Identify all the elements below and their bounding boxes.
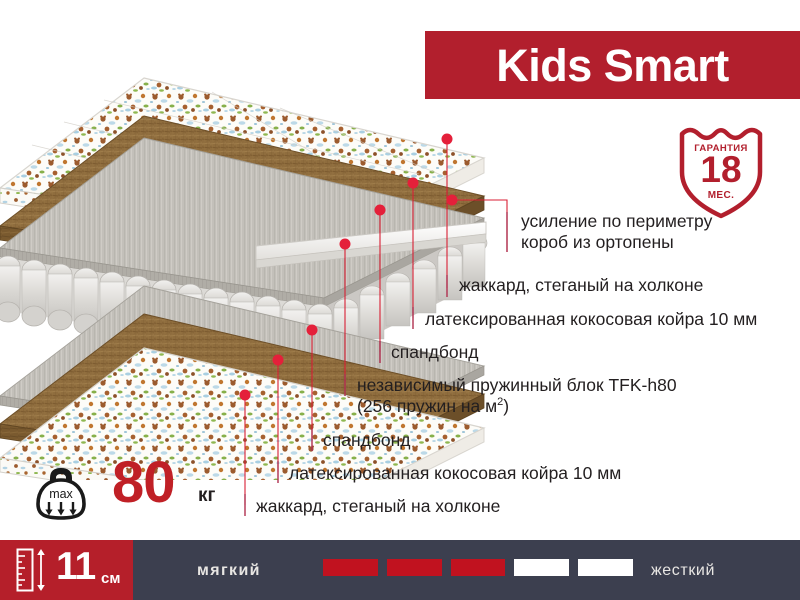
firmness-hard-label: жесткий <box>651 562 715 580</box>
callout-jacquard-top: жаккард, стеганый на холконе <box>459 275 703 296</box>
firmness-segment-2 <box>387 559 442 576</box>
firmness-segment-1 <box>323 559 378 576</box>
callout-perimeter-line1: усиление по периметру <box>521 211 712 232</box>
product-title-banner: Kids Smart <box>425 31 800 99</box>
max-weight-value: 80 <box>112 454 175 512</box>
firmness-segment-3 <box>451 559 506 576</box>
firmness-scale <box>323 559 633 579</box>
firmness-segment-5 <box>578 559 633 576</box>
callout-coir-top: латексированная кокосовая койра 10 мм <box>425 309 757 330</box>
callout-coir-bottom: латексированная кокосовая койра 10 мм <box>289 463 621 484</box>
ruler-icon <box>16 548 50 592</box>
mattress-illustration <box>0 70 504 480</box>
kettlebell-icon: max <box>30 462 92 524</box>
height-value: 11 <box>56 547 95 586</box>
callout-spring-line2-post: ) <box>503 396 509 416</box>
max-weight-unit: кг <box>198 486 215 505</box>
height-unit: см <box>101 571 120 586</box>
callout-spring-line1: независимый пружинный блок TFK-h80 <box>357 375 677 396</box>
infographic-page: Kids Smart ГАРАНТИЯ 18 МЕС. <box>0 0 800 600</box>
warranty-badge: ГАРАНТИЯ 18 МЕС. <box>676 124 766 219</box>
callout-spring-line2-pre: (256 пружин на м <box>357 396 497 416</box>
callout-spandbond-bottom: спандбонд <box>323 430 410 451</box>
callout-perimeter-line2: короб из ортопены <box>521 232 712 253</box>
page-title: Kids Smart <box>496 43 729 88</box>
warranty-unit: МЕС. <box>676 190 766 201</box>
bottom-bar: 11 см мягкий жесткий <box>0 540 800 600</box>
callout-jacquard-bottom: жаккард, стеганый на холконе <box>256 496 500 517</box>
max-weight-block: max 80 кг <box>30 458 260 530</box>
svg-text:max: max <box>49 487 73 501</box>
callout-spandbond-top: спандбонд <box>391 342 478 363</box>
callout-spring-line2: (256 пружин на м2) <box>357 396 677 417</box>
warranty-value: 18 <box>676 151 766 188</box>
firmness-segment-4 <box>514 559 569 576</box>
height-block: 11 см <box>0 540 133 600</box>
firmness-soft-label: мягкий <box>197 562 261 580</box>
callout-perimeter-reinforcement: усиление по периметру короб из ортопены <box>521 211 712 254</box>
callout-spring-block: независимый пружинный блок TFK-h80 (256 … <box>357 375 677 418</box>
